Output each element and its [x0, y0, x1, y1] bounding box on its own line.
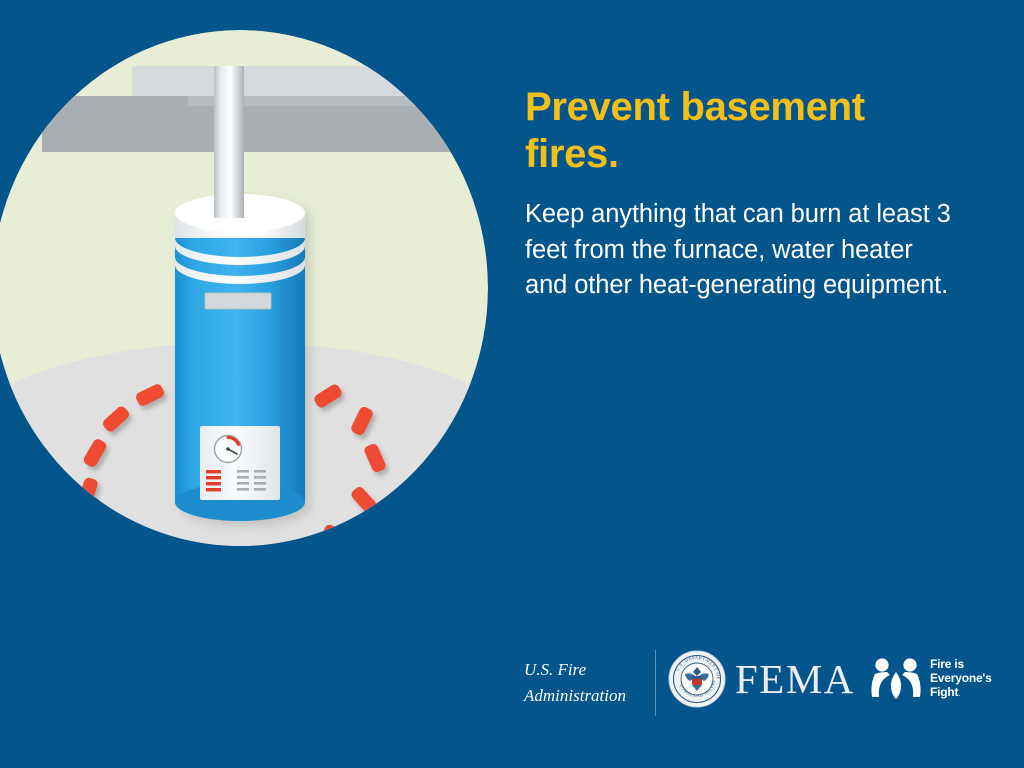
clearance-dash	[132, 542, 162, 546]
two-figures-flame-icon	[869, 652, 923, 704]
fema-logo[interactable]: U.S. DEPARTMENT OF HOMELAND SECURITY FEM…	[668, 650, 855, 708]
body-copy: Keep anything that can burn at least 3 f…	[525, 197, 955, 303]
page-title: Prevent basement fires.	[525, 84, 955, 178]
usfa-logo[interactable]: U.S. Fire Administration	[524, 657, 626, 710]
illustration-svg	[0, 30, 488, 546]
footer-logo-bar: U.S. Fire Administration	[0, 644, 1024, 728]
text-column: Prevent basement fires. Keep anything th…	[525, 84, 955, 304]
fema-wordmark: FEMA	[735, 659, 855, 700]
fief-wordmark: Fire is Everyone's Fight.	[930, 657, 992, 699]
dhs-seal-icon: U.S. DEPARTMENT OF HOMELAND SECURITY	[668, 650, 726, 708]
gauge-hub	[226, 447, 230, 451]
usfa-line-1: U.S. Fire	[524, 657, 626, 683]
fief-line-3: Fight.	[930, 685, 992, 699]
footer-divider	[655, 650, 656, 716]
flue-pipe-front	[214, 66, 244, 218]
fief-line-1: Fire is	[930, 657, 992, 671]
slide-canvas: Prevent basement fires. Keep anything th…	[0, 0, 1024, 768]
clearance-dash	[88, 519, 119, 542]
fief-line-2: Everyone's	[930, 671, 992, 685]
fief-trademark: .	[958, 691, 960, 698]
clearance-dash	[321, 523, 352, 546]
fire-is-everyones-fight-logo[interactable]: Fire is Everyone's Fight.	[869, 652, 992, 704]
water-heater-tank	[175, 194, 305, 521]
illustration-circle	[0, 30, 488, 546]
tank-nameplate	[205, 293, 271, 309]
usfa-line-2: Administration	[524, 683, 626, 709]
water-heater-illustration	[0, 30, 488, 546]
